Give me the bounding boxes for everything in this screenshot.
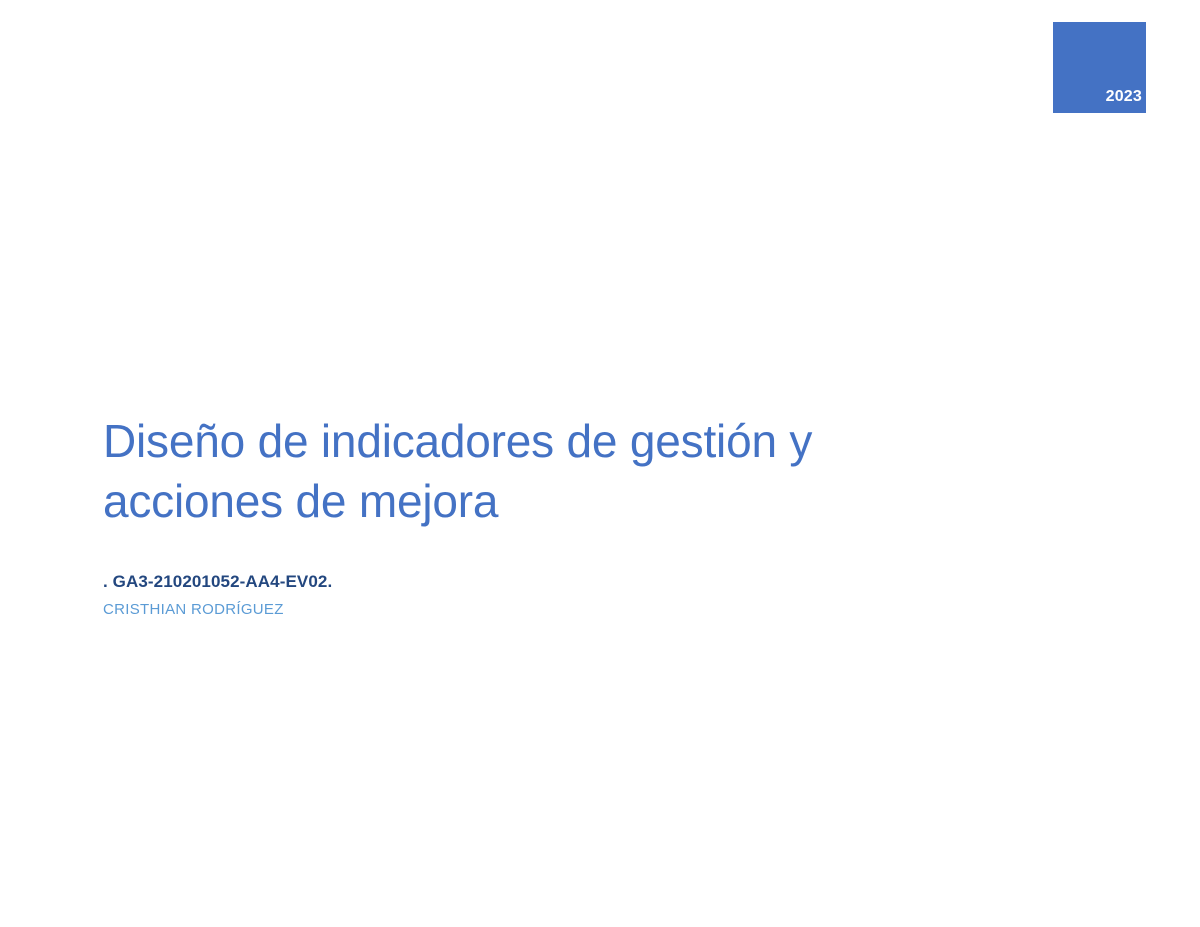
page-title: Diseño de indicadores de gestión y accio…	[103, 412, 923, 532]
author-name-text: CRISTHIAN RODRÍGUEZ	[103, 601, 803, 619]
title-slide: 2023 Diseño de indicadores de gestión y …	[0, 0, 1200, 927]
evidence-code-text: . GA3-210201052-AA4-EV02.	[103, 572, 803, 592]
subtitle-block: . GA3-210201052-AA4-EV02. CRISTHIAN RODR…	[103, 572, 803, 619]
year-badge-label: 2023	[1106, 89, 1142, 105]
title-block: Diseño de indicadores de gestión y accio…	[103, 412, 923, 532]
year-badge: 2023	[1053, 22, 1146, 113]
